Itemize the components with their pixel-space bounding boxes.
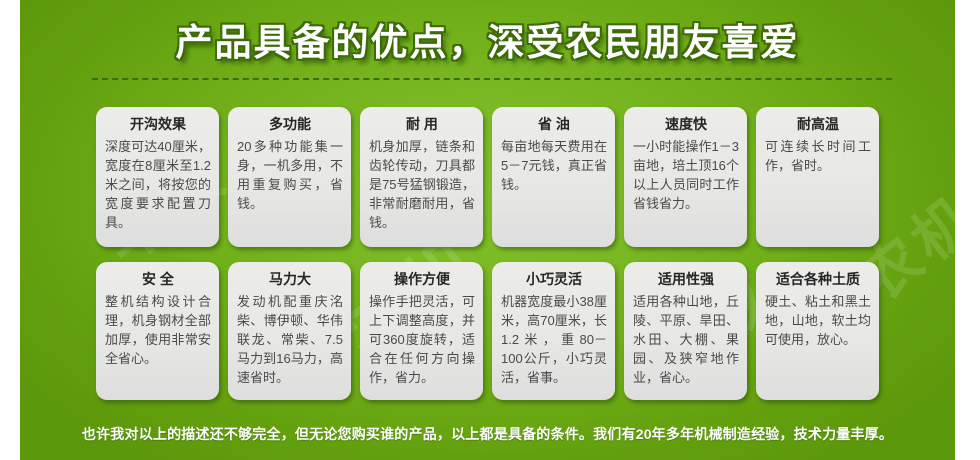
- footer-bar: 也许我对以上的描述还不够完全，但无论您购买谁的产品，以上都是具备的条件。我们有2…: [20, 408, 955, 460]
- feature-card[interactable]: 省 油 每亩地每天费用在5－7元钱，真正省钱。: [492, 107, 615, 247]
- dashed-divider: [92, 78, 892, 80]
- feature-card-body: 可连续长时间工作，省时。: [765, 137, 871, 175]
- feature-card-title: 省 油: [501, 115, 607, 134]
- feature-card[interactable]: 适合各种土质 硬土、粘土和黑土地，山地，软土均可使用，放心。: [756, 262, 879, 400]
- feature-card[interactable]: 耐高温 可连续长时间工作，省时。: [756, 107, 879, 247]
- feature-card-title: 耐高温: [765, 115, 871, 134]
- feature-card-body: 操作手把灵活，可上下调整高度，并可360度旋转，适合在任何方向操作，省力。: [369, 292, 475, 387]
- footer-note: 也许我对以上的描述还不够完全，但无论您购买谁的产品，以上都是具备的条件。我们有2…: [82, 424, 893, 444]
- feature-card-title: 操作方便: [369, 270, 475, 289]
- feature-card-body: 适用各种山地，丘陵、平原、旱田、水田、大棚、果园、及狭窄地作业，省心。: [633, 292, 739, 387]
- feature-card[interactable]: 耐 用 机身加厚，链条和齿轮传动，刀具都是75号猛钢锻造，非常耐磨耐用，省钱。: [360, 107, 483, 247]
- feature-card-row-1: 开沟效果 深度可达40厘米，宽度在8厘米至1.2米之间，将按您的宽度要求配置刀具…: [20, 107, 955, 247]
- title-row: 产品具备的优点，深受农民朋友喜爱: [20, 20, 955, 66]
- feature-card-body: 硬土、粘土和黑土地，山地，软土均可使用，放心。: [765, 292, 871, 349]
- feature-card[interactable]: 开沟效果 深度可达40厘米，宽度在8厘米至1.2米之间，将按您的宽度要求配置刀具…: [96, 107, 219, 247]
- feature-card-body: 深度可达40厘米，宽度在8厘米至1.2米之间，将按您的宽度要求配置刀具。: [105, 137, 211, 232]
- feature-card-body: 每亩地每天费用在5－7元钱，真正省钱。: [501, 137, 607, 194]
- feature-card-body: 整机结构设计合理，机身钢材全部加厚，使用非常安全省心。: [105, 292, 211, 368]
- feature-card-title: 安 全: [105, 270, 211, 289]
- feature-card-body: 20多种功能集一身，一机多用，不用重复购买，省钱。: [237, 137, 343, 213]
- feature-card-title: 开沟效果: [105, 115, 211, 134]
- feature-card[interactable]: 小巧灵活 机器宽度最小38厘米，高70厘米，长1.2米，重80－100公斤，小巧…: [492, 262, 615, 400]
- product-advantages-poster: 丰收 农机 丰收 农机 产品具备的优点，深受农民朋友喜爱 开沟效果 深度可达40…: [0, 0, 980, 460]
- feature-card[interactable]: 适用性强 适用各种山地，丘陵、平原、旱田、水田、大棚、果园、及狭窄地作业，省心。: [624, 262, 747, 400]
- page-title: 产品具备的优点，深受农民朋友喜爱: [176, 20, 800, 66]
- feature-card-title: 适合各种土质: [765, 270, 871, 289]
- feature-card-body: 发动机配重庆洺柴、博伊顿、华伟联龙、常柴、7.5马力到16马力，高速省时。: [237, 292, 343, 387]
- feature-card-title: 速度快: [633, 115, 739, 134]
- feature-card[interactable]: 速度快 一小时能操作1－3亩地，培土顶16个以上人员同时工作省钱省力。: [624, 107, 747, 247]
- feature-card-title: 小巧灵活: [501, 270, 607, 289]
- feature-card-row-2: 安 全 整机结构设计合理，机身钢材全部加厚，使用非常安全省心。 马力大 发动机配…: [20, 262, 955, 400]
- feature-card[interactable]: 操作方便 操作手把灵活，可上下调整高度，并可360度旋转，适合在任何方向操作，省…: [360, 262, 483, 400]
- feature-card-body: 机器宽度最小38厘米，高70厘米，长1.2米，重80－100公斤，小巧灵活，省事…: [501, 292, 607, 387]
- feature-card-title: 适用性强: [633, 270, 739, 289]
- feature-card-title: 多功能: [237, 115, 343, 134]
- feature-card-body: 一小时能操作1－3亩地，培土顶16个以上人员同时工作省钱省力。: [633, 137, 739, 213]
- feature-card-title: 耐 用: [369, 115, 475, 134]
- feature-card[interactable]: 马力大 发动机配重庆洺柴、博伊顿、华伟联龙、常柴、7.5马力到16马力，高速省时…: [228, 262, 351, 400]
- feature-card[interactable]: 安 全 整机结构设计合理，机身钢材全部加厚，使用非常安全省心。: [96, 262, 219, 400]
- feature-card-title: 马力大: [237, 270, 343, 289]
- feature-card[interactable]: 多功能 20多种功能集一身，一机多用，不用重复购买，省钱。: [228, 107, 351, 247]
- green-background-panel: 丰收 农机 丰收 农机 产品具备的优点，深受农民朋友喜爱 开沟效果 深度可达40…: [20, 0, 955, 460]
- feature-card-body: 机身加厚，链条和齿轮传动，刀具都是75号猛钢锻造，非常耐磨耐用，省钱。: [369, 137, 475, 232]
